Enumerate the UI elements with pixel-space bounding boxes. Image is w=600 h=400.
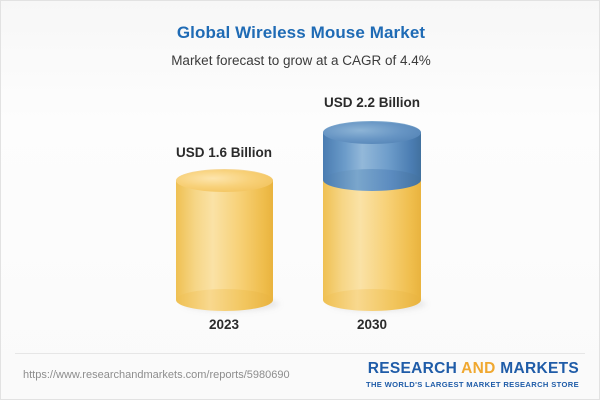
logo-wordmark: RESEARCH AND MARKETS: [366, 361, 579, 377]
x-axis-label-2023: 2023: [144, 317, 304, 332]
logo-tagline: THE WORLD'S LARGEST MARKET RESEARCH STOR…: [366, 380, 579, 389]
plot-area: USD 1.6 Billion 2023 USD 2.2 Billion: [1, 1, 600, 353]
logo-word-and: AND: [461, 360, 495, 377]
bar-base-body-2030: [323, 180, 421, 300]
bar-bottom-cap-2023: [176, 289, 273, 311]
bar-top-cap-2023: [176, 169, 273, 192]
bar-cylinder-2030: [323, 121, 421, 311]
x-axis-label-2030: 2030: [292, 317, 452, 332]
bar-top-cap-2030: [323, 121, 421, 144]
footer-divider: [15, 353, 585, 354]
bar-cylinder-2023: [176, 169, 273, 309]
bar-bottom-cap-2030: [323, 289, 421, 311]
bar-value-label-2030: USD 2.2 Billion: [292, 95, 452, 110]
logo-word-research: RESEARCH: [368, 360, 457, 377]
bar-growth-bottom-edge-2030: [323, 169, 421, 191]
report-url[interactable]: https://www.researchandmarkets.com/repor…: [23, 369, 290, 381]
bar-value-label-2023: USD 1.6 Billion: [144, 145, 304, 160]
research-and-markets-logo: RESEARCH AND MARKETS THE WORLD'S LARGEST…: [366, 361, 579, 389]
logo-word-markets: MARKETS: [500, 360, 579, 377]
chart-image: Global Wireless Mouse Market Market fore…: [0, 0, 600, 400]
bar-body-2023: [176, 180, 273, 300]
